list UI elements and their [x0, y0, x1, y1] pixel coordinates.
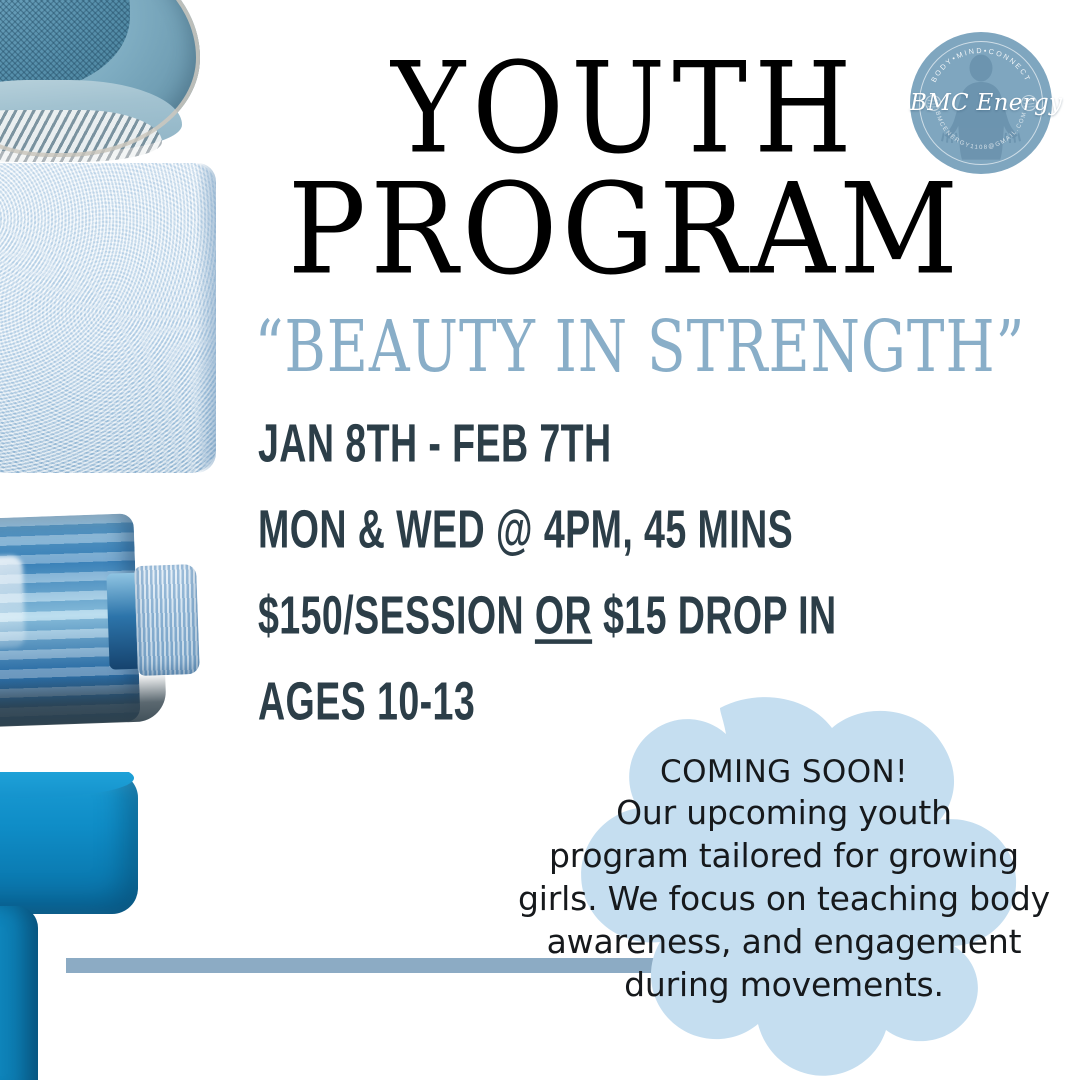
- cloud-callout: COMING SOON! Our upcoming youth program …: [452, 694, 1080, 1080]
- headline-line-1: YOUTH: [230, 52, 1020, 167]
- cloud-line-1: Our upcoming youth: [506, 792, 1062, 835]
- dumbbell-handle: [0, 906, 38, 1080]
- detail-pricing-after: $15 DROP IN: [592, 585, 836, 645]
- cloud-text-block: COMING SOON! Our upcoming youth program …: [506, 752, 1062, 1007]
- detail-schedule: MON & WED @ 4PM, 45 MINS: [258, 502, 818, 556]
- cloud-line-5: during movements.: [506, 964, 1062, 1007]
- detail-pricing: $150/SESSION OR $15 DROP IN: [258, 588, 818, 642]
- headline-line-2: PROGRAM: [214, 173, 1036, 288]
- photo-sneaker: [0, 0, 200, 162]
- cloud-line-2: program tailored for growing: [506, 835, 1062, 878]
- bottle-shadow: [0, 673, 167, 729]
- cloud-heading: COMING SOON!: [506, 752, 1062, 792]
- detail-pricing-before: $150/SESSION: [258, 585, 535, 645]
- cloud-line-3: girls. We focus on teaching body: [506, 878, 1062, 921]
- photo-towel: [0, 163, 216, 473]
- photo-dumbbell: [0, 772, 158, 1080]
- detail-dates: JAN 8TH - FEB 7TH: [258, 416, 818, 470]
- bottle-cap: [134, 564, 200, 676]
- detail-pricing-or: OR: [535, 585, 592, 645]
- photo-water-bottle: [0, 505, 212, 740]
- towel-texture: [0, 163, 216, 473]
- bottle-highlight: [0, 556, 26, 651]
- cloud-line-4: awareness, and engagement: [506, 921, 1062, 964]
- towel-edge: [196, 163, 216, 473]
- poster-canvas: BODY•MIND•CONNECT BMCENERGY1108@GMAIL.CO…: [0, 0, 1080, 1080]
- subtitle-tagline: “BEAUTY IN STRENGTH”: [226, 306, 1053, 389]
- page-title: YOUTH PROGRAM: [230, 52, 1020, 276]
